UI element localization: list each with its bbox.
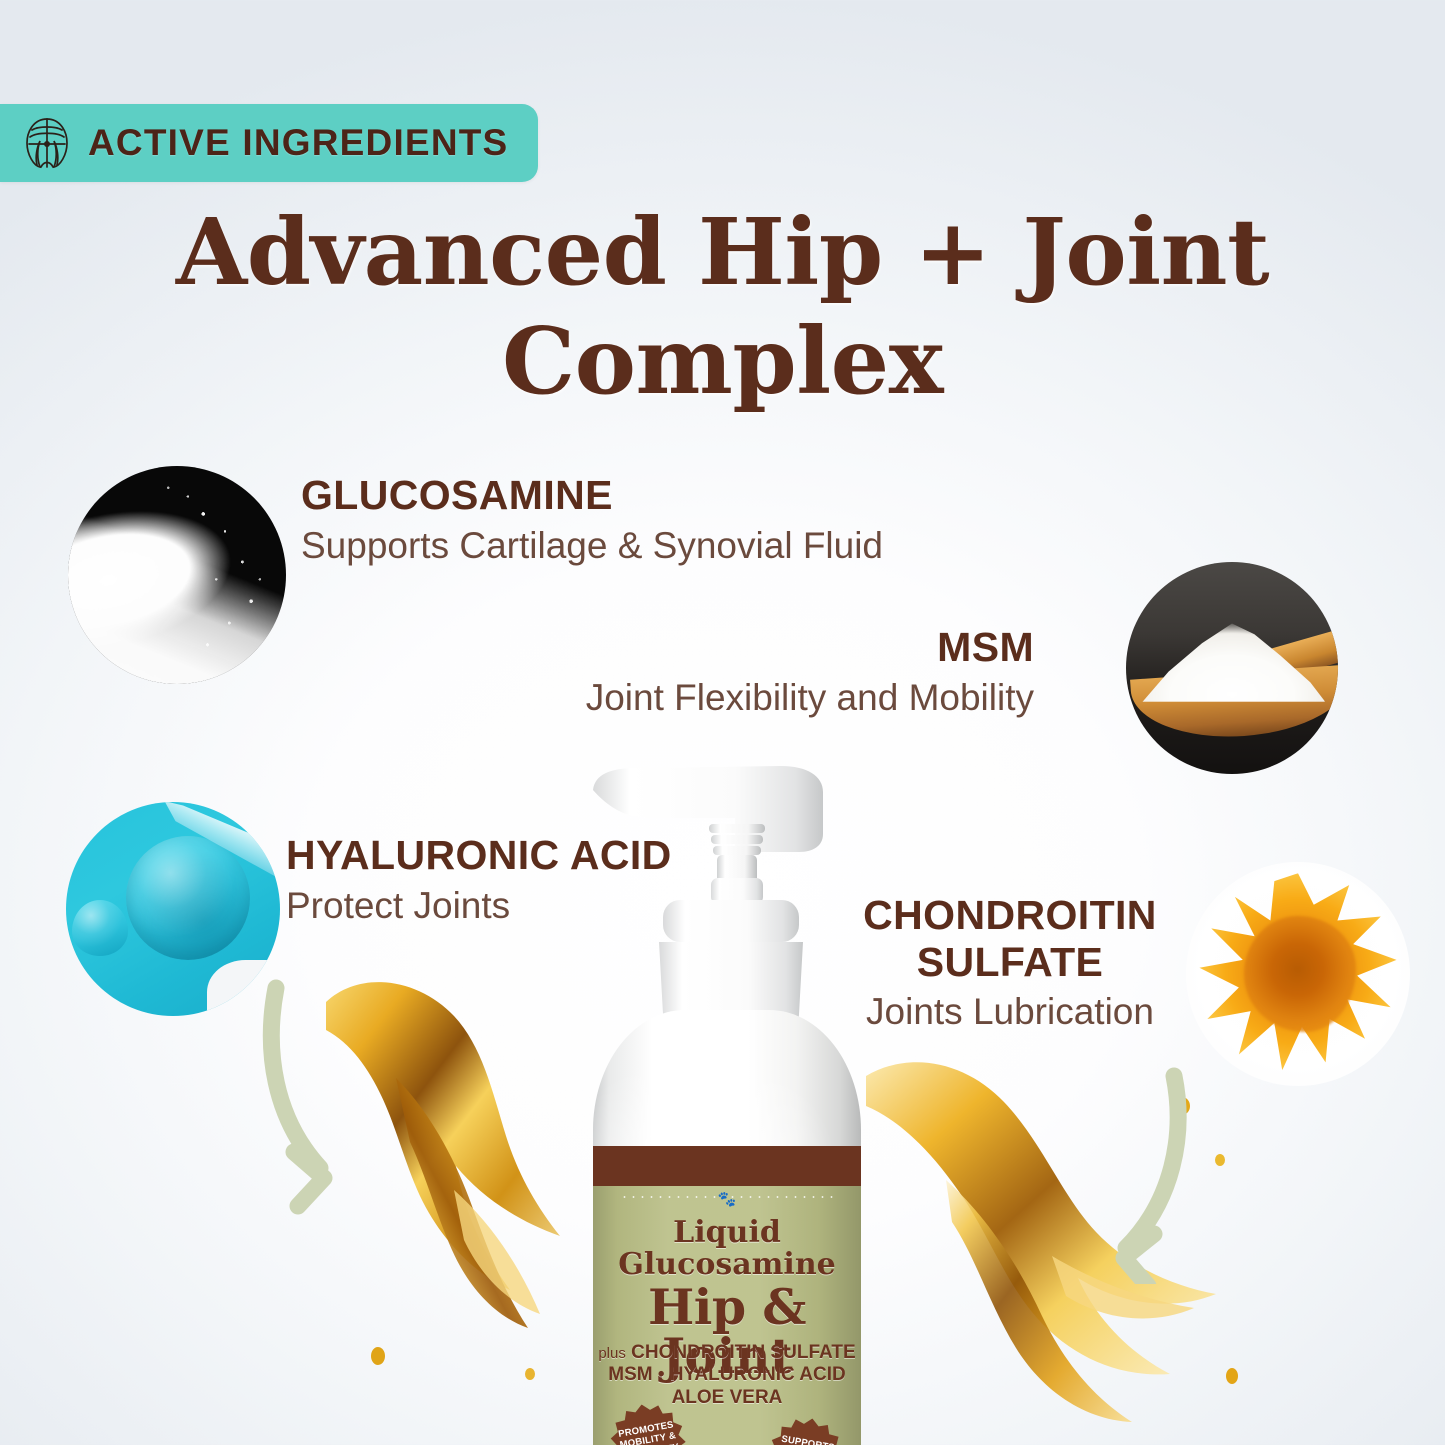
- ingredient-title: MSM: [586, 624, 1034, 671]
- headline-line-2: Complex: [0, 307, 1445, 416]
- ingredient-title-line-1: CHONDROITIN: [838, 892, 1182, 939]
- label-line-liquid: Liquid: [593, 1218, 861, 1248]
- hyaluronic-acid-image: [66, 802, 280, 1016]
- seal-supports-cartilage: SUPPORTS HEALTHY CARTILAGE: [763, 1412, 849, 1445]
- label-plus-prefix: plus: [598, 1345, 626, 1362]
- arrow-to-bottle-left: [258, 972, 390, 1222]
- label-plus-row: plus CHONDROITIN SULFATE: [593, 1342, 861, 1364]
- label-plus-line-1: CHONDROITIN SULFATE: [631, 1342, 855, 1363]
- ingredient-block-chondroitin-sulfate: CHONDROITIN SULFATE Joints Lubrication: [838, 892, 1182, 1035]
- arrow-to-bottle-right: [1062, 1062, 1194, 1284]
- label-plus-line-3: ALOE VERA: [593, 1387, 861, 1409]
- pump-dispenser-icon: [585, 762, 850, 1032]
- msm-image: [1126, 562, 1338, 774]
- label-line-glucosamine: Glucosamine: [593, 1250, 861, 1280]
- gel-droplet-large: [126, 836, 250, 960]
- ingredient-block-msm: MSM Joint Flexibility and Mobility: [586, 624, 1034, 720]
- headline-line-1: Advanced Hip + Joint: [176, 198, 1269, 306]
- seal-right-text: SUPPORTS HEALTHY CARTILAGE: [767, 1432, 846, 1445]
- chondroitin-image: [1186, 862, 1410, 1086]
- label-secondary-ingredients: plus CHONDROITIN SULFATE MSM • HYALURONI…: [593, 1342, 861, 1409]
- paw-print-icon: 🐾: [718, 1192, 737, 1207]
- gel-droplet-small: [72, 900, 128, 956]
- bottle-label: 🐾 Liquid Glucosamine Hip & Joint plus CH…: [593, 1146, 861, 1445]
- bottle-body: 🐾 Liquid Glucosamine Hip & Joint plus CH…: [593, 1010, 861, 1445]
- glucosamine-image: [68, 466, 286, 684]
- seal-left-text: PROMOTES MOBILITY & FLEXIBILITY: [609, 1418, 688, 1445]
- label-plus-line-2: MSM • HYALURONIC ACID: [593, 1364, 861, 1386]
- ingredient-subtitle: Joint Flexibility and Mobility: [586, 675, 1034, 720]
- badge-label: ACTIVE INGREDIENTS: [88, 122, 508, 164]
- page-title: Advanced Hip + Joint Complex: [0, 198, 1445, 415]
- product-bottle: 🐾 Liquid Glucosamine Hip & Joint plus CH…: [565, 762, 865, 1445]
- ingredient-subtitle: Joints Lubrication: [838, 989, 1182, 1034]
- ingredient-title: GLUCOSAMINE: [301, 472, 883, 519]
- ingredient-block-glucosamine: GLUCOSAMINE Supports Cartilage & Synovia…: [301, 472, 883, 568]
- active-ingredients-badge: ACTIVE INGREDIENTS: [0, 104, 538, 182]
- orange-powder-core: [1244, 916, 1356, 1032]
- label-top-band: [593, 1146, 861, 1186]
- ingredient-subtitle: Supports Cartilage & Synovial Fluid: [301, 523, 883, 568]
- leaf-emblem-icon: [24, 117, 70, 169]
- bottle-highlight: [593, 1010, 861, 1160]
- ingredient-title-line-2: SULFATE: [838, 939, 1182, 986]
